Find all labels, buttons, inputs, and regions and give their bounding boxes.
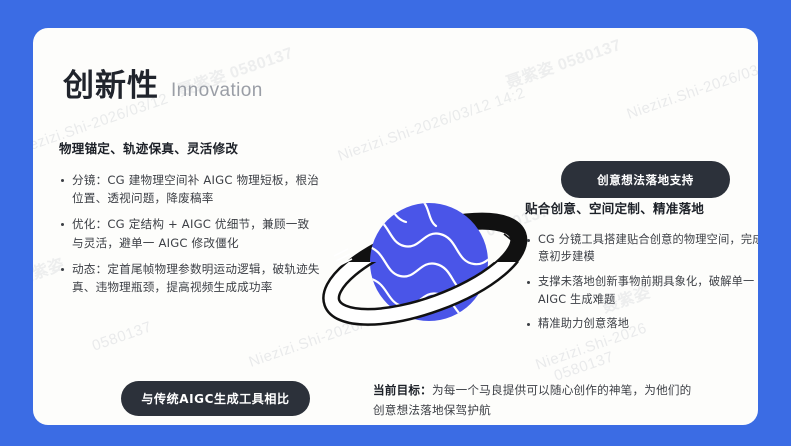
right-subheading: 贴合创意、空间定制、精准落地 [525,200,758,218]
left-subheading: 物理锚定、轨迹保真、灵活修改 [59,140,321,158]
watermark: 0580137 [90,318,154,354]
right-content-column: 贴合创意、空间定制、精准落地 CG 分镜工具搭建贴合创意的物理空间，完成创意初步… [525,128,758,340]
watermark: 聂紫姿 0580137 [502,31,624,93]
list-item: 支撑未落地创新事物前期具象化，破解单一 AIGC 生成难题 [525,273,758,308]
slide-card: Niezizi.Shi-2026/03/12 聂紫姿 0580137 Niezi… [33,28,758,425]
list-item: CG 分镜工具搭建贴合创意的物理空间，完成创意初步建模 [525,231,758,266]
watermark: 0580137 [552,348,616,384]
page-title: 创新性 Innovation [63,60,263,105]
right-bullet-list: CG 分镜工具搭建贴合创意的物理空间，完成创意初步建模 支撑未落地创新事物前期具… [525,231,758,333]
watermark: Niezizi.Shi-2026/03/12 14:2 [336,84,528,164]
watermark: Niezizi.Shi-2026/03/12 [625,54,758,123]
planet-with-ring-icon [318,176,533,361]
list-item: 分镜：CG 建物理空间补 AIGC 物理短板，根治位置、透视问题，降废稿率 [59,171,321,209]
left-bullet-list: 分镜：CG 建物理空间补 AIGC 物理短板，根治位置、透视问题，降废稿率 优化… [59,171,321,298]
goal-label: 当前目标： [373,383,432,397]
page-title-en: Innovation [171,80,263,102]
page-title-cn: 创新性 [63,60,159,105]
list-item: 优化：CG 定结构 + AIGC 优细节，兼顾一致与灵活，避单一 AIGC 修改… [59,215,321,253]
compare-aigc-badge[interactable]: 与传统AIGC生成工具相比 [121,381,310,416]
slide-canvas: Niezizi.Shi-2026/03/12 聂紫姿 0580137 Niezi… [0,0,791,446]
list-item: 精准助力创意落地 [525,315,758,333]
current-goal-statement: 当前目标：为每一个马良提供可以随心创作的神笔，为他们的创意想法落地保驾护航 [373,381,703,420]
left-content-column: 物理锚定、轨迹保真、灵活修改 分镜：CG 建物理空间补 AIGC 物理短板，根治… [59,140,321,304]
list-item: 动态：定首尾帧物理参数明运动逻辑，破轨迹失真、违物理瓶颈，提高视频生成成功率 [59,260,321,298]
